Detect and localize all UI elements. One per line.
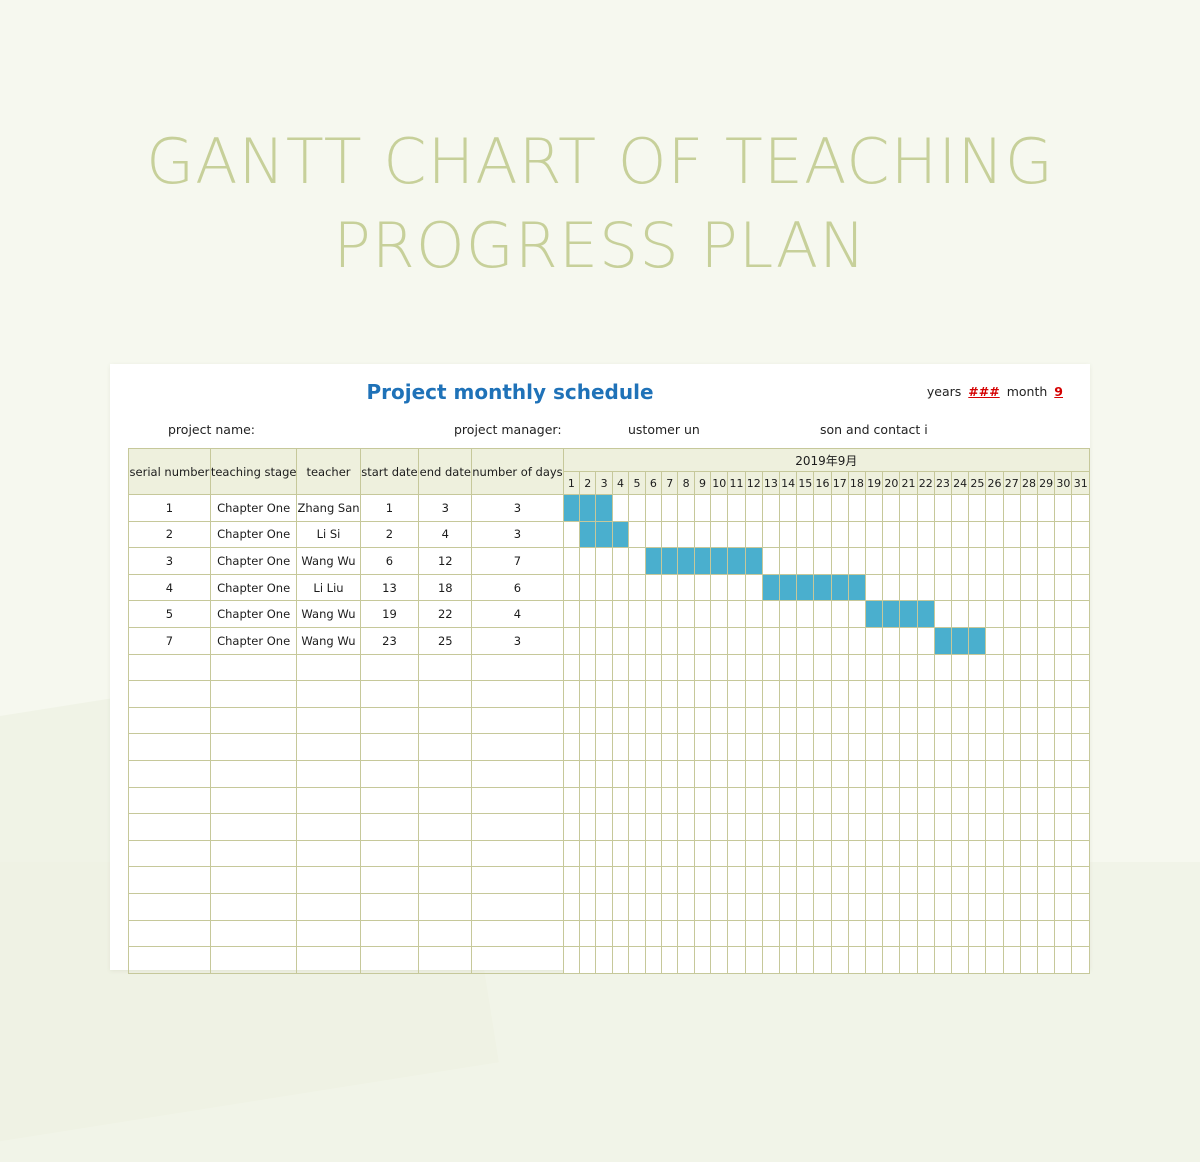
empty-cell[interactable] xyxy=(1038,707,1055,734)
empty-cell[interactable] xyxy=(1020,681,1037,708)
empty-cell[interactable] xyxy=(814,920,831,947)
gantt-empty-cell[interactable] xyxy=(986,627,1003,654)
gantt-empty-cell[interactable] xyxy=(952,548,969,575)
gantt-empty-cell[interactable] xyxy=(866,495,883,522)
empty-cell[interactable] xyxy=(728,707,745,734)
empty-cell[interactable] xyxy=(969,707,986,734)
empty-cell[interactable] xyxy=(629,734,645,761)
empty-cell[interactable] xyxy=(129,867,211,894)
empty-cell[interactable] xyxy=(596,893,612,920)
empty-cell[interactable] xyxy=(797,787,814,814)
cell-number-of-days[interactable]: 7 xyxy=(472,548,563,575)
cell-serial-number[interactable]: 2 xyxy=(129,521,211,548)
empty-cell[interactable] xyxy=(883,681,900,708)
gantt-bar-segment[interactable] xyxy=(797,574,814,601)
empty-cell[interactable] xyxy=(360,840,419,867)
gantt-empty-cell[interactable] xyxy=(900,495,917,522)
gantt-empty-cell[interactable] xyxy=(1038,574,1055,601)
empty-cell[interactable] xyxy=(678,734,694,761)
empty-cell[interactable] xyxy=(797,867,814,894)
table-row[interactable]: 5Chapter OneWang Wu19224 xyxy=(129,601,1090,628)
empty-cell[interactable] xyxy=(1055,760,1072,787)
empty-cell[interactable] xyxy=(472,734,563,761)
empty-cell[interactable] xyxy=(952,760,969,787)
empty-cell[interactable] xyxy=(780,787,797,814)
empty-cell[interactable] xyxy=(711,734,728,761)
gantt-empty-cell[interactable] xyxy=(917,495,934,522)
empty-cell[interactable] xyxy=(662,760,678,787)
gantt-empty-cell[interactable] xyxy=(1020,627,1037,654)
gantt-empty-cell[interactable] xyxy=(711,574,728,601)
empty-cell[interactable] xyxy=(728,814,745,841)
empty-cell[interactable] xyxy=(662,947,678,974)
empty-cell[interactable] xyxy=(419,681,472,708)
empty-cell[interactable] xyxy=(883,707,900,734)
gantt-empty-cell[interactable] xyxy=(629,627,645,654)
empty-cell[interactable] xyxy=(563,787,579,814)
empty-cell[interactable] xyxy=(934,654,951,681)
gantt-empty-cell[interactable] xyxy=(797,521,814,548)
empty-cell[interactable] xyxy=(1003,760,1020,787)
gantt-empty-cell[interactable] xyxy=(969,495,986,522)
empty-cell[interactable] xyxy=(612,840,628,867)
gantt-empty-cell[interactable] xyxy=(1055,548,1072,575)
empty-cell[interactable] xyxy=(645,947,661,974)
gantt-empty-cell[interactable] xyxy=(678,574,694,601)
empty-cell[interactable] xyxy=(917,867,934,894)
cell-teaching-stage[interactable]: Chapter One xyxy=(210,548,297,575)
gantt-empty-cell[interactable] xyxy=(797,495,814,522)
empty-cell[interactable] xyxy=(728,947,745,974)
empty-cell[interactable] xyxy=(645,920,661,947)
cell-start-date[interactable]: 1 xyxy=(360,495,419,522)
empty-cell[interactable] xyxy=(780,947,797,974)
empty-cell[interactable] xyxy=(866,920,883,947)
gantt-empty-cell[interactable] xyxy=(866,627,883,654)
empty-cell[interactable] xyxy=(728,787,745,814)
empty-cell[interactable] xyxy=(831,734,848,761)
empty-cell[interactable] xyxy=(580,681,596,708)
empty-cell[interactable] xyxy=(866,840,883,867)
gantt-bar-segment[interactable] xyxy=(780,574,797,601)
empty-cell[interactable] xyxy=(1055,681,1072,708)
empty-cell[interactable] xyxy=(210,920,297,947)
empty-cell[interactable] xyxy=(629,654,645,681)
empty-cell[interactable] xyxy=(711,947,728,974)
empty-cell[interactable] xyxy=(419,893,472,920)
empty-cell[interactable] xyxy=(629,840,645,867)
empty-cell[interactable] xyxy=(210,893,297,920)
empty-cell[interactable] xyxy=(969,893,986,920)
empty-cell[interactable] xyxy=(917,681,934,708)
cell-end-date[interactable]: 22 xyxy=(419,601,472,628)
empty-cell[interactable] xyxy=(848,734,865,761)
gantt-bar-segment[interactable] xyxy=(694,548,710,575)
cell-serial-number[interactable]: 1 xyxy=(129,495,211,522)
empty-cell[interactable] xyxy=(360,734,419,761)
gantt-bar-segment[interactable] xyxy=(580,495,596,522)
empty-cell[interactable] xyxy=(419,947,472,974)
empty-cell[interactable] xyxy=(952,787,969,814)
gantt-empty-cell[interactable] xyxy=(563,574,579,601)
gantt-empty-cell[interactable] xyxy=(645,521,661,548)
empty-cell[interactable] xyxy=(900,867,917,894)
gantt-empty-cell[interactable] xyxy=(917,574,934,601)
gantt-empty-cell[interactable] xyxy=(1003,548,1020,575)
empty-cell[interactable] xyxy=(711,920,728,947)
gantt-empty-cell[interactable] xyxy=(934,548,951,575)
empty-cell[interactable] xyxy=(831,840,848,867)
gantt-empty-cell[interactable] xyxy=(629,574,645,601)
empty-cell[interactable] xyxy=(866,787,883,814)
empty-cell[interactable] xyxy=(129,920,211,947)
empty-cell[interactable] xyxy=(210,840,297,867)
gantt-empty-cell[interactable] xyxy=(711,521,728,548)
empty-cell[interactable] xyxy=(711,840,728,867)
cell-serial-number[interactable]: 7 xyxy=(129,627,211,654)
empty-cell[interactable] xyxy=(866,760,883,787)
empty-cell[interactable] xyxy=(694,814,710,841)
empty-cell[interactable] xyxy=(848,814,865,841)
empty-cell[interactable] xyxy=(952,867,969,894)
gantt-empty-cell[interactable] xyxy=(1055,495,1072,522)
empty-cell[interactable] xyxy=(969,681,986,708)
gantt-empty-cell[interactable] xyxy=(1072,548,1090,575)
gantt-empty-cell[interactable] xyxy=(1072,574,1090,601)
empty-cell[interactable] xyxy=(645,760,661,787)
empty-cell[interactable] xyxy=(612,947,628,974)
empty-cell[interactable] xyxy=(1038,734,1055,761)
empty-cell[interactable] xyxy=(728,760,745,787)
empty-cell[interactable] xyxy=(596,654,612,681)
empty-cell[interactable] xyxy=(814,681,831,708)
gantt-empty-cell[interactable] xyxy=(1038,627,1055,654)
empty-cell[interactable] xyxy=(728,920,745,947)
empty-cell[interactable] xyxy=(780,920,797,947)
empty-cell[interactable] xyxy=(596,734,612,761)
empty-cell[interactable] xyxy=(662,707,678,734)
empty-cell[interactable] xyxy=(1038,681,1055,708)
table-row[interactable]: 7Chapter OneWang Wu23253 xyxy=(129,627,1090,654)
gantt-empty-cell[interactable] xyxy=(969,521,986,548)
gantt-empty-cell[interactable] xyxy=(662,601,678,628)
empty-cell[interactable] xyxy=(900,654,917,681)
gantt-empty-cell[interactable] xyxy=(831,521,848,548)
gantt-empty-cell[interactable] xyxy=(745,521,762,548)
empty-cell[interactable] xyxy=(797,760,814,787)
empty-cell[interactable] xyxy=(866,654,883,681)
empty-cell[interactable] xyxy=(210,654,297,681)
empty-cell[interactable] xyxy=(580,840,596,867)
empty-cell[interactable] xyxy=(1020,787,1037,814)
empty-cell[interactable] xyxy=(1072,893,1090,920)
empty-cell[interactable] xyxy=(900,681,917,708)
empty-cell[interactable] xyxy=(596,920,612,947)
empty-cell[interactable] xyxy=(678,867,694,894)
empty-cell[interactable] xyxy=(678,920,694,947)
gantt-empty-cell[interactable] xyxy=(612,548,628,575)
empty-cell[interactable] xyxy=(580,947,596,974)
empty-cell[interactable] xyxy=(662,681,678,708)
empty-cell[interactable] xyxy=(831,681,848,708)
empty-cell[interactable] xyxy=(612,814,628,841)
empty-cell[interactable] xyxy=(745,840,762,867)
empty-cell[interactable] xyxy=(419,654,472,681)
gantt-empty-cell[interactable] xyxy=(629,548,645,575)
empty-cell[interactable] xyxy=(745,787,762,814)
empty-cell[interactable] xyxy=(762,840,779,867)
cell-start-date[interactable]: 23 xyxy=(360,627,419,654)
gantt-empty-cell[interactable] xyxy=(780,495,797,522)
gantt-empty-cell[interactable] xyxy=(780,601,797,628)
cell-teaching-stage[interactable]: Chapter One xyxy=(210,627,297,654)
gantt-empty-cell[interactable] xyxy=(629,521,645,548)
gantt-empty-cell[interactable] xyxy=(762,521,779,548)
gantt-empty-cell[interactable] xyxy=(986,574,1003,601)
gantt-bar-segment[interactable] xyxy=(917,601,934,628)
empty-cell[interactable] xyxy=(797,893,814,920)
empty-cell[interactable] xyxy=(678,840,694,867)
empty-cell[interactable] xyxy=(1020,707,1037,734)
empty-cell[interactable] xyxy=(129,893,211,920)
empty-cell[interactable] xyxy=(563,760,579,787)
gantt-empty-cell[interactable] xyxy=(1072,495,1090,522)
gantt-empty-cell[interactable] xyxy=(1055,627,1072,654)
empty-cell[interactable] xyxy=(563,814,579,841)
gantt-empty-cell[interactable] xyxy=(580,627,596,654)
gantt-empty-cell[interactable] xyxy=(814,495,831,522)
empty-cell[interactable] xyxy=(969,814,986,841)
empty-cell[interactable] xyxy=(662,814,678,841)
empty-cell[interactable] xyxy=(831,787,848,814)
gantt-empty-cell[interactable] xyxy=(1003,601,1020,628)
empty-cell[interactable] xyxy=(814,734,831,761)
empty-cell[interactable] xyxy=(596,947,612,974)
empty-cell[interactable] xyxy=(934,893,951,920)
table-row[interactable]: 1Chapter OneZhang San133 xyxy=(129,495,1090,522)
gantt-empty-cell[interactable] xyxy=(797,601,814,628)
empty-cell[interactable] xyxy=(1020,814,1037,841)
empty-cell[interactable] xyxy=(883,760,900,787)
empty-cell[interactable] xyxy=(360,681,419,708)
empty-cell[interactable] xyxy=(1072,734,1090,761)
empty-cell[interactable] xyxy=(986,840,1003,867)
empty-cell[interactable] xyxy=(969,654,986,681)
gantt-empty-cell[interactable] xyxy=(848,627,865,654)
cell-start-date[interactable]: 13 xyxy=(360,574,419,601)
gantt-empty-cell[interactable] xyxy=(883,574,900,601)
empty-cell[interactable] xyxy=(694,840,710,867)
empty-cell[interactable] xyxy=(1055,920,1072,947)
empty-cell[interactable] xyxy=(210,734,297,761)
empty-cell[interactable] xyxy=(580,654,596,681)
empty-cell[interactable] xyxy=(662,920,678,947)
table-row-empty[interactable] xyxy=(129,760,1090,787)
empty-cell[interactable] xyxy=(1038,947,1055,974)
cell-number-of-days[interactable]: 6 xyxy=(472,574,563,601)
empty-cell[interactable] xyxy=(831,947,848,974)
empty-cell[interactable] xyxy=(866,947,883,974)
empty-cell[interactable] xyxy=(1038,893,1055,920)
cell-teacher[interactable]: Wang Wu xyxy=(297,601,360,628)
cell-serial-number[interactable]: 3 xyxy=(129,548,211,575)
empty-cell[interactable] xyxy=(1038,654,1055,681)
empty-cell[interactable] xyxy=(580,734,596,761)
empty-cell[interactable] xyxy=(1055,787,1072,814)
gantt-empty-cell[interactable] xyxy=(848,495,865,522)
gantt-empty-cell[interactable] xyxy=(678,495,694,522)
gantt-empty-cell[interactable] xyxy=(934,601,951,628)
table-row-empty[interactable] xyxy=(129,814,1090,841)
cell-end-date[interactable]: 3 xyxy=(419,495,472,522)
empty-cell[interactable] xyxy=(745,760,762,787)
gantt-bar-segment[interactable] xyxy=(711,548,728,575)
empty-cell[interactable] xyxy=(986,814,1003,841)
gantt-empty-cell[interactable] xyxy=(596,601,612,628)
empty-cell[interactable] xyxy=(780,681,797,708)
gantt-empty-cell[interactable] xyxy=(969,601,986,628)
empty-cell[interactable] xyxy=(986,707,1003,734)
gantt-empty-cell[interactable] xyxy=(1038,521,1055,548)
cell-teacher[interactable]: Wang Wu xyxy=(297,627,360,654)
empty-cell[interactable] xyxy=(952,734,969,761)
gantt-empty-cell[interactable] xyxy=(694,601,710,628)
empty-cell[interactable] xyxy=(1072,681,1090,708)
empty-cell[interactable] xyxy=(814,760,831,787)
empty-cell[interactable] xyxy=(780,707,797,734)
empty-cell[interactable] xyxy=(917,707,934,734)
gantt-empty-cell[interactable] xyxy=(814,548,831,575)
empty-cell[interactable] xyxy=(969,867,986,894)
gantt-empty-cell[interactable] xyxy=(900,548,917,575)
cell-number-of-days[interactable]: 4 xyxy=(472,601,563,628)
empty-cell[interactable] xyxy=(745,920,762,947)
empty-cell[interactable] xyxy=(419,787,472,814)
cell-teaching-stage[interactable]: Chapter One xyxy=(210,495,297,522)
gantt-empty-cell[interactable] xyxy=(580,574,596,601)
empty-cell[interactable] xyxy=(629,681,645,708)
empty-cell[interactable] xyxy=(472,920,563,947)
empty-cell[interactable] xyxy=(969,760,986,787)
gantt-empty-cell[interactable] xyxy=(1072,601,1090,628)
empty-cell[interactable] xyxy=(780,760,797,787)
empty-cell[interactable] xyxy=(297,920,360,947)
empty-cell[interactable] xyxy=(1003,947,1020,974)
cell-teacher[interactable]: Li Si xyxy=(297,521,360,548)
empty-cell[interactable] xyxy=(694,787,710,814)
empty-cell[interactable] xyxy=(762,707,779,734)
empty-cell[interactable] xyxy=(1072,840,1090,867)
gantt-empty-cell[interactable] xyxy=(1038,495,1055,522)
empty-cell[interactable] xyxy=(1055,707,1072,734)
empty-cell[interactable] xyxy=(419,920,472,947)
empty-cell[interactable] xyxy=(612,893,628,920)
empty-cell[interactable] xyxy=(848,840,865,867)
empty-cell[interactable] xyxy=(210,814,297,841)
empty-cell[interactable] xyxy=(472,814,563,841)
empty-cell[interactable] xyxy=(1072,920,1090,947)
gantt-empty-cell[interactable] xyxy=(883,548,900,575)
empty-cell[interactable] xyxy=(883,734,900,761)
empty-cell[interactable] xyxy=(1055,947,1072,974)
gantt-empty-cell[interactable] xyxy=(1003,574,1020,601)
empty-cell[interactable] xyxy=(986,787,1003,814)
gantt-empty-cell[interactable] xyxy=(986,548,1003,575)
empty-cell[interactable] xyxy=(629,893,645,920)
month-value[interactable]: 9 xyxy=(1054,384,1063,399)
cell-serial-number[interactable]: 5 xyxy=(129,601,211,628)
gantt-bar-segment[interactable] xyxy=(762,574,779,601)
gantt-empty-cell[interactable] xyxy=(563,548,579,575)
gantt-empty-cell[interactable] xyxy=(934,574,951,601)
empty-cell[interactable] xyxy=(969,947,986,974)
empty-cell[interactable] xyxy=(952,681,969,708)
gantt-empty-cell[interactable] xyxy=(1020,574,1037,601)
gantt-empty-cell[interactable] xyxy=(762,548,779,575)
gantt-empty-cell[interactable] xyxy=(831,627,848,654)
empty-cell[interactable] xyxy=(745,867,762,894)
empty-cell[interactable] xyxy=(1003,654,1020,681)
empty-cell[interactable] xyxy=(1038,760,1055,787)
empty-cell[interactable] xyxy=(297,681,360,708)
gantt-empty-cell[interactable] xyxy=(645,601,661,628)
gantt-empty-cell[interactable] xyxy=(1003,627,1020,654)
empty-cell[interactable] xyxy=(629,947,645,974)
empty-cell[interactable] xyxy=(900,920,917,947)
cell-start-date[interactable]: 2 xyxy=(360,521,419,548)
empty-cell[interactable] xyxy=(645,681,661,708)
empty-cell[interactable] xyxy=(1020,734,1037,761)
empty-cell[interactable] xyxy=(1072,947,1090,974)
empty-cell[interactable] xyxy=(728,681,745,708)
empty-cell[interactable] xyxy=(612,787,628,814)
empty-cell[interactable] xyxy=(900,707,917,734)
empty-cell[interactable] xyxy=(360,760,419,787)
gantt-bar-segment[interactable] xyxy=(645,548,661,575)
empty-cell[interactable] xyxy=(678,893,694,920)
gantt-empty-cell[interactable] xyxy=(900,627,917,654)
empty-cell[interactable] xyxy=(472,760,563,787)
gantt-empty-cell[interactable] xyxy=(612,495,628,522)
empty-cell[interactable] xyxy=(934,681,951,708)
gantt-empty-cell[interactable] xyxy=(883,521,900,548)
gantt-empty-cell[interactable] xyxy=(986,495,1003,522)
gantt-bar-segment[interactable] xyxy=(596,521,612,548)
gantt-bar-segment[interactable] xyxy=(580,521,596,548)
empty-cell[interactable] xyxy=(866,867,883,894)
gantt-empty-cell[interactable] xyxy=(662,627,678,654)
cell-serial-number[interactable]: 4 xyxy=(129,574,211,601)
gantt-empty-cell[interactable] xyxy=(883,627,900,654)
empty-cell[interactable] xyxy=(596,760,612,787)
empty-cell[interactable] xyxy=(848,920,865,947)
empty-cell[interactable] xyxy=(883,814,900,841)
empty-cell[interactable] xyxy=(662,867,678,894)
empty-cell[interactable] xyxy=(745,814,762,841)
empty-cell[interactable] xyxy=(797,814,814,841)
gantt-empty-cell[interactable] xyxy=(866,574,883,601)
empty-cell[interactable] xyxy=(419,840,472,867)
empty-cell[interactable] xyxy=(629,814,645,841)
table-row-empty[interactable] xyxy=(129,840,1090,867)
gantt-empty-cell[interactable] xyxy=(745,601,762,628)
empty-cell[interactable] xyxy=(934,787,951,814)
empty-cell[interactable] xyxy=(711,681,728,708)
gantt-empty-cell[interactable] xyxy=(662,521,678,548)
gantt-empty-cell[interactable] xyxy=(883,495,900,522)
empty-cell[interactable] xyxy=(831,760,848,787)
gantt-bar-segment[interactable] xyxy=(866,601,883,628)
